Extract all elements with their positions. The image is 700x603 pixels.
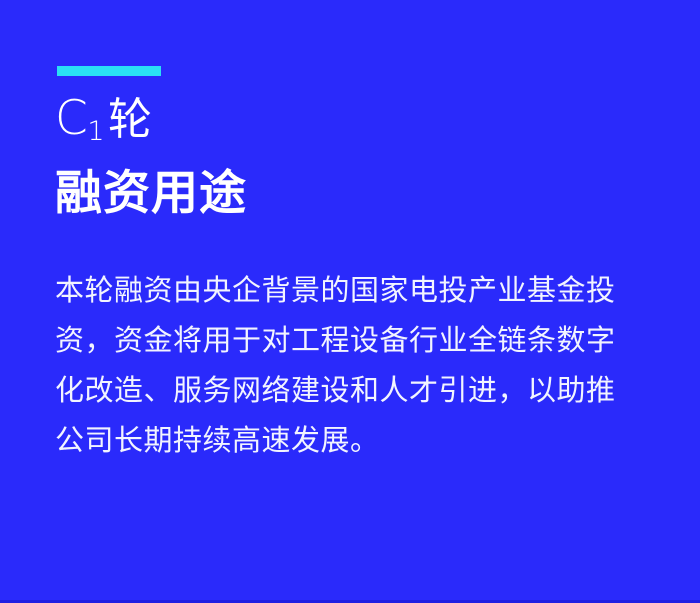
body-paragraph: 本轮融资由央企背景的国家电投产业基金投 资，资金将用于对工程设备行业全链条数字 … [55,266,649,466]
body-line: 公司长期持续高速发展。 [55,416,649,466]
body-line: 本轮融资由央企背景的国家电投产业基金投 [55,266,649,316]
accent-bar-decoration [57,66,161,76]
body-line: 资，资金将用于对工程设备行业全链条数字 [55,316,649,366]
round-title: C1轮 [55,92,655,153]
body-line: 化改造、服务网络建设和人才引进，以助推 [55,366,649,416]
round-title-suffix: 轮 [108,94,153,145]
heading-block: C1轮 融资用途 [55,92,655,221]
funding-usage-slide: C1轮 融资用途 本轮融资由央企背景的国家电投产业基金投 资，资金将用于对工程设… [0,0,700,603]
round-title-subscript: 1 [87,116,105,147]
page-title: 融资用途 [55,165,655,221]
round-title-letter: C [55,91,88,146]
